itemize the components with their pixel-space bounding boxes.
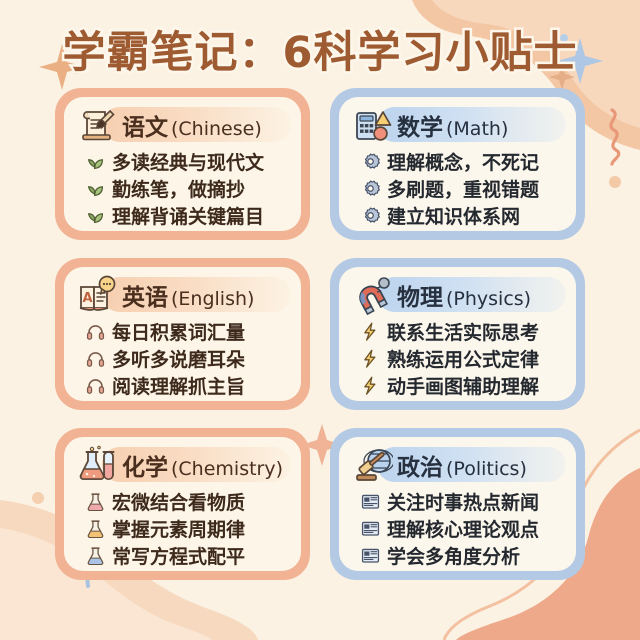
gear-icon [361, 206, 380, 225]
subject-name-en: (Physics) [446, 288, 531, 310]
tip-text: 宏微结合看物质 [112, 488, 245, 515]
subject-name-en: (Politics) [446, 458, 527, 480]
subject-card-english[interactable]: A英语(English)每日积累词汇量多听多说磨耳朵阅读理解抓主旨 [55, 258, 310, 410]
subject-label: 英语(English) [122, 278, 254, 312]
subject-name-en: (Math) [446, 118, 508, 140]
headphones-icon [86, 376, 105, 395]
tip-text: 勤练笔，做摘抄 [112, 175, 245, 202]
tip-text: 建立知识体系网 [387, 202, 520, 229]
tip-item: 理解概念，不死记 [361, 148, 568, 175]
tip-text: 理解概念，不死记 [387, 148, 539, 175]
subject-label: 政治(Politics) [397, 448, 527, 482]
tip-item: 阅读理解抓主旨 [86, 372, 293, 399]
gear-icon [361, 152, 380, 171]
lightning-bolt-icon [361, 322, 380, 341]
calculator-shapes-icon [351, 105, 393, 145]
subject-card-header: 语文(Chinese) [72, 105, 293, 145]
tip-list: 联系生活实际思考熟练运用公式定律动手画图辅助理解 [347, 318, 568, 399]
tip-item: 熟练运用公式定律 [361, 345, 568, 372]
subject-card-header: A英语(English) [72, 275, 293, 315]
tip-item: 多读经典与现代文 [86, 148, 293, 175]
tip-text: 动手画图辅助理解 [387, 372, 539, 399]
subject-card-inner: 语文(Chinese)多读经典与现代文勤练笔，做摘抄理解背诵关键篇目 [64, 97, 301, 231]
tip-list: 关注时事热点新闻理解核心理论观点学会多角度分析 [347, 488, 568, 569]
tip-text: 熟练运用公式定律 [387, 345, 539, 372]
open-book-speech-icon: A [76, 275, 118, 315]
svg-text:A: A [82, 291, 92, 306]
leaf-sprout-icon [86, 152, 105, 171]
tip-list: 理解概念，不死记多刷题，重视错题建立知识体系网 [347, 148, 568, 229]
tip-item: 学会多角度分析 [361, 542, 568, 569]
flask-testtube-icon [76, 445, 118, 485]
tip-text: 多刷题，重视错题 [387, 175, 539, 202]
subject-card-politics[interactable]: 政治(Politics)关注时事热点新闻理解核心理论观点学会多角度分析 [330, 428, 585, 580]
subject-name-cn: 政治 [397, 455, 443, 481]
tip-item: 多听多说磨耳朵 [86, 345, 293, 372]
leaf-sprout-icon [86, 206, 105, 225]
tip-item: 每日积累词汇量 [86, 318, 293, 345]
tip-item: 掌握元素周期律 [86, 515, 293, 542]
subject-card-header: 物理(Physics) [347, 275, 568, 315]
tip-item: 联系生活实际思考 [361, 318, 568, 345]
subject-name-cn: 语文 [122, 115, 168, 141]
newspaper-icon [361, 492, 380, 511]
leaf-sprout-icon [86, 179, 105, 198]
gear-icon [361, 179, 380, 198]
tip-item: 多刷题，重视错题 [361, 175, 568, 202]
tip-text: 理解核心理论观点 [387, 515, 539, 542]
subject-card-inner: 政治(Politics)关注时事热点新闻理解核心理论观点学会多角度分析 [339, 437, 576, 571]
tip-item: 理解背诵关键篇目 [86, 202, 293, 229]
tip-list: 每日积累词汇量多听多说磨耳朵阅读理解抓主旨 [72, 318, 293, 399]
subject-name-en: (Chinese) [171, 118, 262, 140]
subject-card-header: 化学(Chemistry) [72, 445, 293, 485]
tip-list: 多读经典与现代文勤练笔，做摘抄理解背诵关键篇目 [72, 148, 293, 229]
subject-card-inner: 化学(Chemistry)宏微结合看物质掌握元素周期律常写方程式配平 [64, 437, 301, 571]
subject-card-header: 政治(Politics) [347, 445, 568, 485]
tip-text: 掌握元素周期律 [112, 515, 245, 542]
tip-text: 阅读理解抓主旨 [112, 372, 245, 399]
tip-text: 学会多角度分析 [387, 542, 520, 569]
tip-item: 建立知识体系网 [361, 202, 568, 229]
tip-item: 勤练笔，做摘抄 [86, 175, 293, 202]
subject-name-cn: 物理 [397, 285, 443, 311]
subject-card-grid: 语文(Chinese)多读经典与现代文勤练笔，做摘抄理解背诵关键篇目数学(Mat… [0, 88, 640, 580]
lightning-bolt-icon [361, 349, 380, 368]
subject-label: 数学(Math) [397, 108, 508, 142]
gavel-globe-icon [351, 445, 393, 485]
tip-text: 关注时事热点新闻 [387, 488, 539, 515]
flask-icon [86, 519, 105, 538]
tip-item: 关注时事热点新闻 [361, 488, 568, 515]
poster-title-text: 学霸笔记：6科学习小贴士 [63, 18, 578, 80]
tip-text: 理解背诵关键篇目 [112, 202, 264, 229]
subject-card-header: 数学(Math) [347, 105, 568, 145]
tip-list: 宏微结合看物质掌握元素周期律常写方程式配平 [72, 488, 293, 569]
lightning-bolt-icon [361, 376, 380, 395]
tip-text: 多听多说磨耳朵 [112, 345, 245, 372]
tip-item: 动手画图辅助理解 [361, 372, 568, 399]
subject-label: 化学(Chemistry) [122, 448, 283, 482]
tip-text: 每日积累词汇量 [112, 318, 245, 345]
flask-icon [86, 546, 105, 565]
scroll-brush-icon [76, 105, 118, 145]
headphones-icon [86, 322, 105, 341]
newspaper-icon [361, 519, 380, 538]
tip-text: 多读经典与现代文 [112, 148, 264, 175]
subject-card-chemistry[interactable]: 化学(Chemistry)宏微结合看物质掌握元素周期律常写方程式配平 [55, 428, 310, 580]
tip-item: 理解核心理论观点 [361, 515, 568, 542]
subject-name-en: (English) [171, 288, 254, 310]
subject-name-cn: 英语 [122, 285, 168, 311]
tip-item: 常写方程式配平 [86, 542, 293, 569]
subject-label: 语文(Chinese) [122, 108, 262, 142]
subject-card-inner: 数学(Math)理解概念，不死记多刷题，重视错题建立知识体系网 [339, 97, 576, 231]
subject-name-en: (Chemistry) [171, 458, 283, 480]
flask-icon [86, 492, 105, 511]
newspaper-icon [361, 546, 380, 565]
tip-text: 常写方程式配平 [112, 542, 245, 569]
subject-card-chinese[interactable]: 语文(Chinese)多读经典与现代文勤练笔，做摘抄理解背诵关键篇目 [55, 88, 310, 240]
subject-card-inner: A英语(English)每日积累词汇量多听多说磨耳朵阅读理解抓主旨 [64, 267, 301, 401]
tip-item: 宏微结合看物质 [86, 488, 293, 515]
subject-name-cn: 化学 [122, 455, 168, 481]
subject-label: 物理(Physics) [397, 278, 531, 312]
headphones-icon [86, 349, 105, 368]
subject-card-inner: 物理(Physics)联系生活实际思考熟练运用公式定律动手画图辅助理解 [339, 267, 576, 401]
subject-name-cn: 数学 [397, 115, 443, 141]
subject-card-physics[interactable]: 物理(Physics)联系生活实际思考熟练运用公式定律动手画图辅助理解 [330, 258, 585, 410]
poster-title: 学霸笔记：6科学习小贴士 [0, 18, 640, 80]
subject-card-math[interactable]: 数学(Math)理解概念，不死记多刷题，重视错题建立知识体系网 [330, 88, 585, 240]
tip-text: 联系生活实际思考 [387, 318, 539, 345]
magnet-icon [351, 275, 393, 315]
poster-canvas: 学霸笔记：6科学习小贴士 语文(Chinese)多读经典与现代文勤练笔，做摘抄理… [0, 0, 640, 640]
